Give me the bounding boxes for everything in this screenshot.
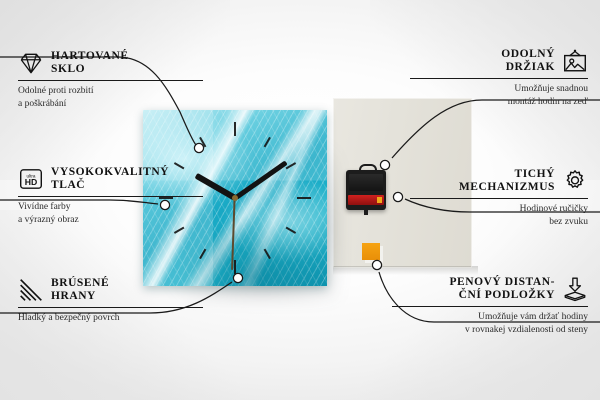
- feature-divider: [410, 78, 588, 79]
- feature-description: Hodinové ručičkybez zvuku: [410, 203, 588, 228]
- feature-title: ODOLNÝDRŽIAK: [501, 48, 555, 74]
- feature-header: PENOVÝ DISTAN-ČNÍ PODLOŽKY: [392, 276, 588, 302]
- feature-hardened-glass: HARTOVANÉSKLO Odolné proti rozbitía pošk…: [18, 50, 203, 110]
- feature-title: PENOVÝ DISTAN-ČNÍ PODLOŽKY: [449, 276, 555, 302]
- callout-marker-ground-edges: [233, 273, 242, 282]
- product-infographic: HARTOVANÉSKLO Odolné proti rozbitía pošk…: [0, 0, 600, 400]
- picture-frame-icon: [562, 48, 588, 74]
- callout-marker-silent-mechanism: [393, 192, 402, 201]
- gear-icon: [562, 168, 588, 194]
- feature-description: Umožňuje vám držať hodinyv rovnakej vzdi…: [392, 311, 588, 336]
- feature-title: VYSOKOKVALITNÝTLAČ: [51, 166, 169, 192]
- feature-header: TICHÝMECHANIZMUS: [410, 168, 588, 194]
- feature-header: HARTOVANÉSKLO: [18, 50, 203, 76]
- feature-description: Odolné proti rozbitía poškrábání: [18, 85, 203, 110]
- feature-foam-spacers: PENOVÝ DISTAN-ČNÍ PODLOŽKY Umožňuje vám …: [392, 276, 588, 336]
- callout-marker-foam-spacers: [372, 260, 381, 269]
- feature-high-quality-print: ultra HD VYSOKOKVALITNÝTLAČ Vivídne farb…: [18, 166, 203, 226]
- feature-divider: [18, 80, 203, 81]
- feature-silent-mechanism: TICHÝMECHANIZMUS Hodinové ručičkybez zvu…: [410, 168, 588, 228]
- feature-header: ultra HD VYSOKOKVALITNÝTLAČ: [18, 166, 203, 192]
- feature-divider: [392, 306, 588, 307]
- feature-title: TICHÝMECHANIZMUS: [459, 168, 555, 194]
- feature-description: Hladký a bezpečný povrch: [18, 312, 203, 325]
- diamond-icon: [18, 50, 44, 76]
- feature-header: BRÚSENÉHRANY: [18, 277, 203, 303]
- callout-marker-hardened-glass: [194, 143, 203, 152]
- feature-divider: [18, 196, 203, 197]
- feature-divider: [410, 198, 588, 199]
- feature-description: Vivídne farbya výrazný obraz: [18, 201, 203, 226]
- feature-title: BRÚSENÉHRANY: [51, 277, 109, 303]
- feature-ground-edges: BRÚSENÉHRANY Hladký a bezpečný povrch: [18, 277, 203, 325]
- svg-text:HD: HD: [25, 177, 38, 187]
- callout-marker-durable-holder: [380, 160, 389, 169]
- bevel-lines-icon: [18, 277, 44, 303]
- arrow-into-pad-icon: [562, 276, 588, 302]
- feature-title: HARTOVANÉSKLO: [51, 50, 129, 76]
- feature-header: ODOLNÝDRŽIAK: [410, 48, 588, 74]
- feature-durable-holder: ODOLNÝDRŽIAK Umožňuje snadnoumontáž hodi…: [410, 48, 588, 108]
- callout-line-durable-holder: [392, 100, 600, 158]
- ultra-hd-icon: ultra HD: [18, 166, 44, 192]
- feature-description: Umožňuje snadnoumontáž hodin na zeď: [410, 83, 588, 108]
- feature-divider: [18, 307, 203, 308]
